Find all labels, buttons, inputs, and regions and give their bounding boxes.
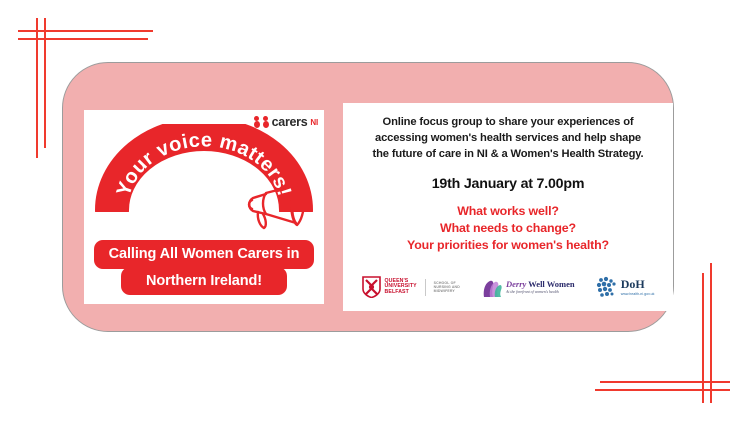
qub-divider <box>425 279 426 296</box>
doh-dots-icon <box>596 276 618 298</box>
calling-banner: Calling All Women Carers in Northern Ire… <box>94 240 314 295</box>
dww-tagline: At the forefront of women's health <box>506 290 575 294</box>
event-datetime: 19th January at 7.00pm <box>343 176 673 192</box>
queens-university-belfast-logo: QUEEN'S UNIVERSITY BELFAST SCHOOL OF NUR… <box>362 276 460 298</box>
question-3: Your priorities for women's health? <box>343 237 673 254</box>
banner-line-1: Calling All Women Carers in <box>94 240 314 269</box>
qub-shield-icon <box>362 276 381 298</box>
intro-line-2: accessing women's health services and he… <box>351 131 665 147</box>
qub-line-3: BELFAST <box>385 290 417 296</box>
doh-name: DoH <box>621 278 655 290</box>
bracket-line-vertical-inner <box>44 18 46 148</box>
bracket-line-vertical-outer <box>36 18 38 158</box>
right-poster-card: Online focus group to share your experie… <box>343 103 673 311</box>
questions-block: What works well? What needs to change? Y… <box>343 203 673 254</box>
intro-paragraph: Online focus group to share your experie… <box>351 115 665 163</box>
derry-well-women-logo: Derry Well Women At the forefront of wom… <box>481 276 575 298</box>
question-1: What works well? <box>343 203 673 220</box>
intro-line-1: Online focus group to share your experie… <box>351 115 665 131</box>
dww-word-1: Derry <box>506 279 526 289</box>
poster-stage: carers NI Your voice matters! <box>0 0 748 421</box>
doh-url: www.health-ni.gov.uk <box>621 292 655 296</box>
women-profiles-icon <box>481 276 503 298</box>
doh-wordmark: DoH www.health-ni.gov.uk <box>621 278 655 296</box>
intro-line-3: the future of care in NI & a Women's Hea… <box>351 147 665 163</box>
bracket-line-vertical-inner <box>702 273 704 403</box>
dww-name: Derry Well Women <box>506 280 575 289</box>
dww-word-2: Well Women <box>528 279 574 289</box>
bracket-line-vertical-outer <box>710 263 712 403</box>
left-poster-card: carers NI Your voice matters! <box>84 110 324 304</box>
dww-wordmark: Derry Well Women At the forefront of wom… <box>506 280 575 294</box>
qub-wordmark: QUEEN'S UNIVERSITY BELFAST <box>385 279 417 296</box>
qub-school-line-3: MIDWIFERY <box>434 289 460 293</box>
question-2: What needs to change? <box>343 220 673 237</box>
qub-school-label: SCHOOL OF NURSING AND MIDWIFERY <box>434 281 460 293</box>
partner-logo-strip: QUEEN'S UNIVERSITY BELFAST SCHOOL OF NUR… <box>343 269 673 305</box>
department-of-health-logo: DoH www.health-ni.gov.uk <box>596 276 655 298</box>
bracket-line-horizontal-outer <box>18 30 153 32</box>
banner-line-2: Northern Ireland! <box>121 267 287 296</box>
megaphone-icon <box>236 176 322 234</box>
